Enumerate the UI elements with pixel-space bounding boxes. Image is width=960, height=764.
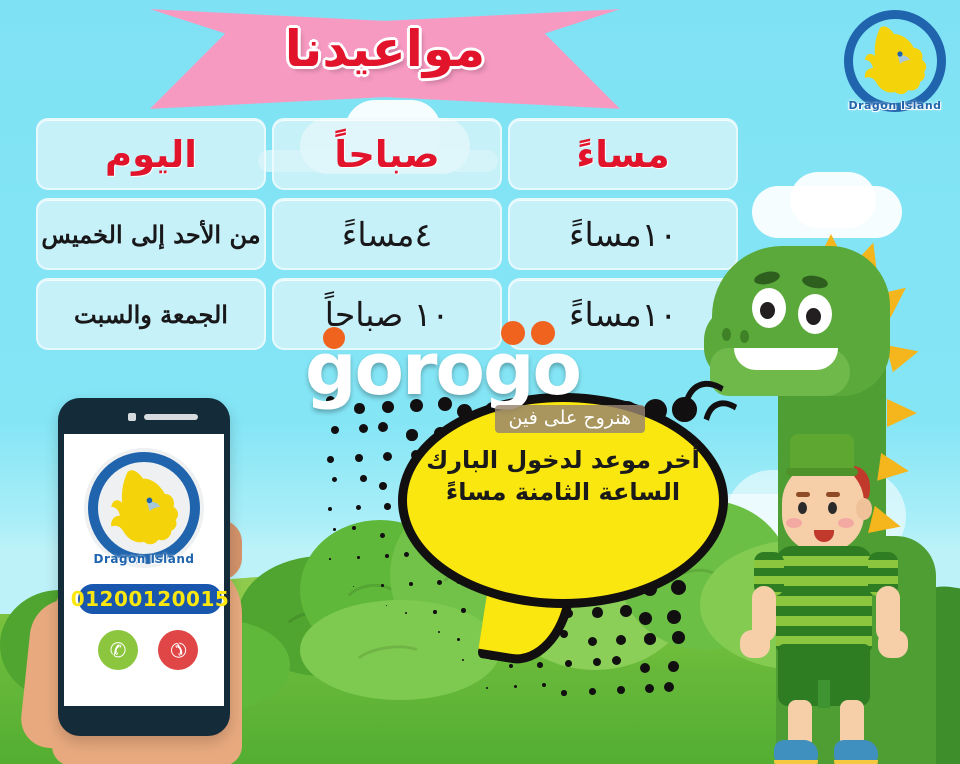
dragon-head-icon bbox=[84, 448, 204, 568]
table-header-evening: مساءً bbox=[508, 118, 738, 190]
evening-time: ١٠مساءً bbox=[569, 295, 677, 334]
table-header-morning: صباحاً bbox=[272, 118, 502, 190]
header-label: مساءً bbox=[576, 133, 669, 176]
header-label: اليوم bbox=[105, 133, 197, 176]
boy-cap-brim bbox=[786, 468, 858, 476]
notice-line-1: أخر موعد لدخول البارك bbox=[420, 445, 706, 477]
table-header-row: اليوم صباحاً مساءً bbox=[36, 118, 738, 190]
dragon-pupil bbox=[760, 302, 775, 319]
table-header-day: اليوم bbox=[36, 118, 266, 190]
cell-evening: ١٠مساءً bbox=[508, 198, 738, 270]
dragon-nostril bbox=[740, 330, 749, 343]
boy-shorts-gap bbox=[818, 680, 830, 708]
watermark-dot bbox=[531, 321, 555, 345]
boy-hand bbox=[878, 630, 908, 658]
dragon-mouth bbox=[734, 348, 838, 370]
dragon-pupil bbox=[806, 308, 821, 325]
boy-brow bbox=[796, 492, 810, 497]
morning-time: ٤مساءً bbox=[342, 215, 432, 254]
day-label: الجمعة والسبت bbox=[74, 300, 228, 329]
watermark-dot bbox=[501, 321, 525, 345]
evening-time: ١٠مساءً bbox=[569, 215, 677, 254]
logo-wordmark: Dragon Island bbox=[84, 552, 204, 566]
boy-cap bbox=[790, 434, 854, 472]
watermark: gorogo هنروح على فين bbox=[305, 335, 645, 433]
phone-mockup: Dragon Island 01200120015 ✆ ✆ bbox=[58, 398, 230, 736]
boy-shoe-sole bbox=[834, 760, 878, 764]
phone-camera-icon bbox=[128, 413, 136, 421]
notice-text: أخر موعد لدخول البارك الساعة الثامنة مسا… bbox=[420, 445, 706, 508]
boy-shoe bbox=[774, 740, 818, 762]
brand-logo: Dragon Island bbox=[84, 448, 204, 568]
boy-shoe-sole bbox=[774, 760, 818, 764]
call-accept-button[interactable]: ✆ bbox=[98, 630, 138, 670]
boy-eye bbox=[798, 502, 807, 514]
watermark-dot bbox=[323, 327, 345, 349]
phone-number[interactable]: 01200120015 bbox=[78, 584, 222, 614]
header-label: صباحاً bbox=[334, 133, 439, 176]
phone-speaker bbox=[144, 414, 198, 420]
cell-day: من الأحد إلى الخميس bbox=[36, 198, 266, 270]
page-title: مواعيدنا bbox=[150, 20, 620, 78]
phone-hangup-icon: ✆ bbox=[164, 636, 193, 665]
watermark-logo: gorogo bbox=[305, 335, 645, 403]
dragon-spike bbox=[887, 399, 917, 427]
day-label: من الأحد إلى الخميس bbox=[41, 220, 260, 249]
infographic-canvas: مواعيدنا Dragon Island bbox=[0, 0, 960, 764]
watermark-tagline: هنروح على فين bbox=[495, 405, 646, 433]
boy-shoe bbox=[834, 740, 878, 762]
cloud-icon bbox=[790, 172, 876, 228]
boy-shirt bbox=[776, 546, 872, 652]
boy-cheek bbox=[786, 518, 802, 528]
phone-screen: Dragon Island 01200120015 ✆ ✆ bbox=[64, 434, 224, 706]
notice-line-2: الساعة الثامنة مساءً bbox=[420, 477, 706, 509]
cell-day: الجمعة والسبت bbox=[36, 278, 266, 350]
schedule-table: اليوم صباحاً مساءً من الأحد إلى الخميس ٤… bbox=[36, 118, 738, 358]
phone-call-icon: ✆ bbox=[110, 638, 127, 662]
boy-hand bbox=[740, 630, 770, 658]
title-ribbon: مواعيدنا bbox=[150, 6, 620, 118]
table-row: من الأحد إلى الخميس ٤مساءً ١٠مساءً bbox=[36, 198, 738, 270]
boy-ear bbox=[856, 498, 872, 520]
bush-shape bbox=[300, 600, 500, 700]
boy-eye bbox=[828, 502, 837, 514]
call-decline-button[interactable]: ✆ bbox=[158, 630, 198, 670]
boy-brow bbox=[826, 492, 840, 497]
cell-morning: ٤مساءً bbox=[272, 198, 502, 270]
dragon-spike bbox=[886, 338, 922, 372]
boy-cheek bbox=[838, 518, 854, 528]
dragon-nostril bbox=[722, 328, 731, 341]
brand-logo: Dragon Island bbox=[840, 6, 950, 116]
logo-wordmark: Dragon Island bbox=[840, 99, 950, 112]
speech-bubble-tail-join bbox=[468, 513, 598, 583]
